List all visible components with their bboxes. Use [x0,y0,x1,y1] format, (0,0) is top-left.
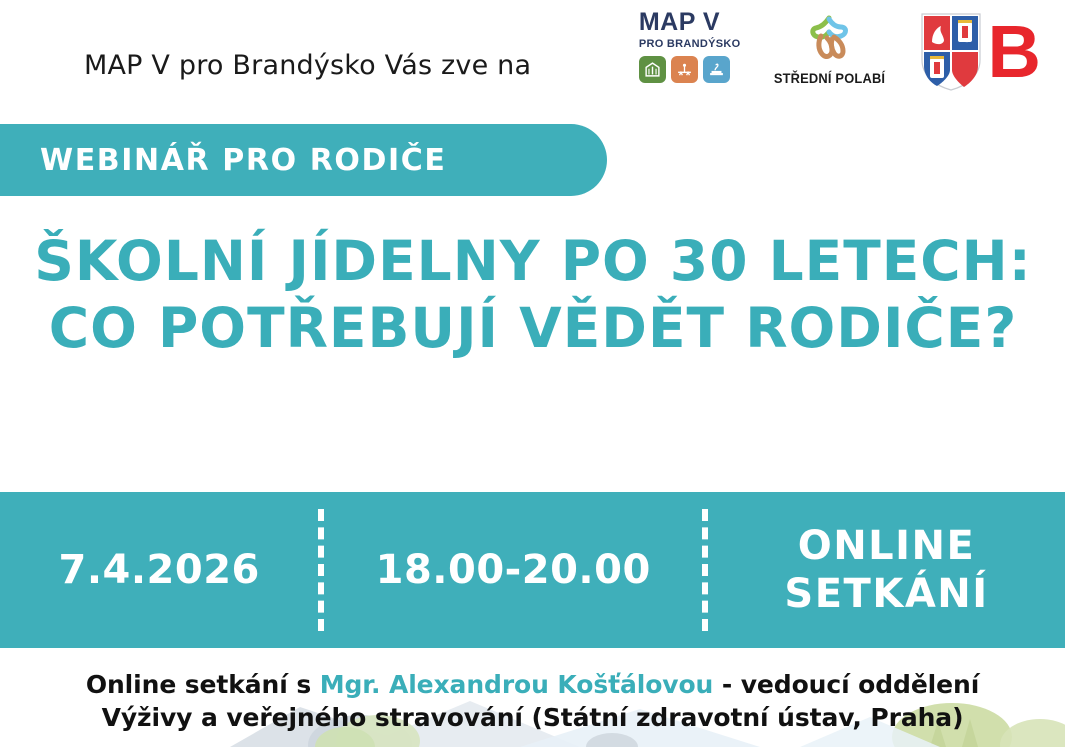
speaker-prefix: Online setkání s [86,670,320,699]
brandys-coat-of-arms-icon [918,10,984,94]
webinar-poster: MAP V pro Brandýsko Vás zve na MAP V PRO… [0,0,1065,747]
event-time: 18.00-20.00 [324,492,702,648]
speaker-description: Online setkání s Mgr. Alexandrou Košťálo… [20,668,1045,735]
stredni-polabi-logo-text: STŘEDNÍ POLABÍ [773,70,884,86]
map-v-logo-title: MAP V [639,10,720,35]
book-house-icon [639,56,666,83]
poster-header: MAP V pro Brandýsko Vás zve na MAP V PRO… [0,0,1065,112]
brandys-logo-letter: B [988,22,1039,83]
event-mode-line2: SETKÁNÍ [784,570,988,618]
desk-books-icon [703,56,730,83]
webinar-banner-label: WEBINÁŘ PRO RODIČE [40,143,447,178]
map-v-logo-subtitle: PRO BRANDÝSKO [639,38,741,50]
event-info-bar: 7.4.2026 18.00-20.00 ONLINE SETKÁNÍ [0,492,1065,648]
webinar-banner: WEBINÁŘ PRO RODIČE [0,124,607,196]
event-mode-line1: ONLINE [784,522,988,570]
event-mode: ONLINE SETKÁNÍ [708,492,1065,648]
speaker-name: Mgr. Alexandrou Košťálovou [320,670,714,699]
stredni-polabi-logo: STŘEDNÍ POLABÍ [769,8,890,86]
speaker-affiliation: Výživy a veřejného stravování (Státní zd… [102,703,964,732]
event-date: 7.4.2026 [0,492,318,648]
map-v-logo-tiles [639,56,730,83]
stredni-polabi-star-icon [799,12,859,68]
logo-row: MAP V PRO BRANDÝSKO [639,8,1039,94]
invite-line: MAP V pro Brandýsko Vás zve na [84,50,531,81]
page-title: ŠKOLNÍ JÍDELNY PO 30 LETECH: CO POTŘEBUJ… [28,228,1038,362]
brandys-logo: B [918,8,1039,94]
speaker-suffix: - vedoucí oddělení [713,670,979,699]
playground-icon [671,56,698,83]
map-v-logo: MAP V PRO BRANDÝSKO [639,8,741,83]
